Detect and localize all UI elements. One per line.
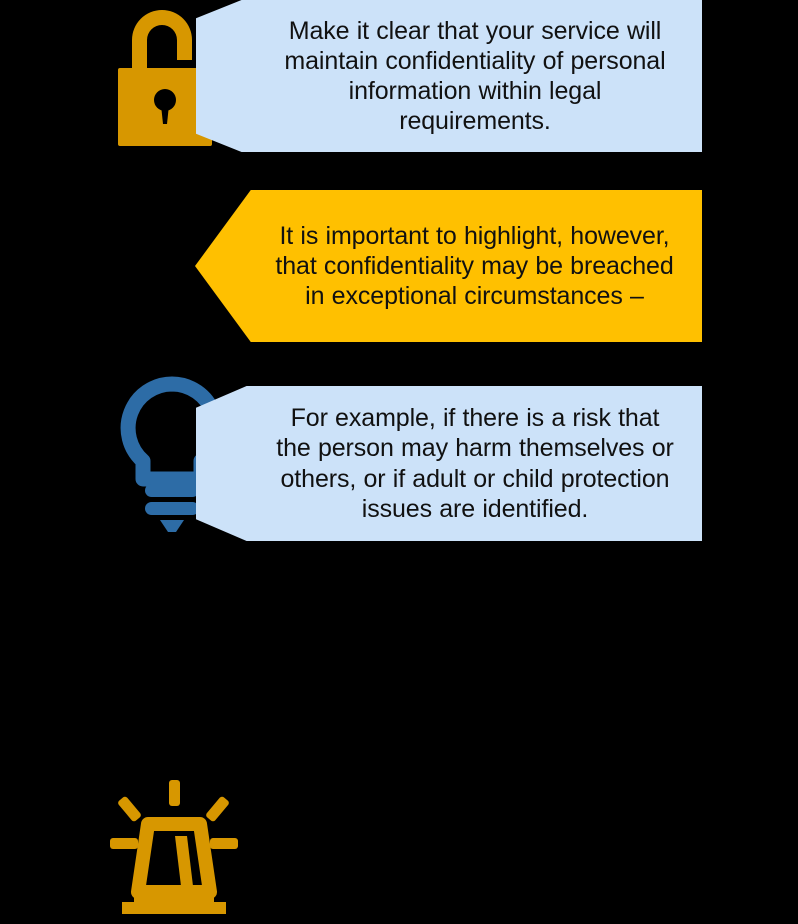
content-row-example: For example, if there is a risk that the… xyxy=(0,386,798,541)
banner-text-exception: It is important to highlight, however, t… xyxy=(195,221,702,312)
banner-text-example: For example, if there is a risk that the… xyxy=(196,403,702,524)
slide-canvas: Make it clear that your service will mai… xyxy=(0,0,798,550)
banner-text-confidentiality: Make it clear that your service will mai… xyxy=(196,16,702,137)
content-row-confidentiality: Make it clear that your service will mai… xyxy=(0,0,798,152)
alarm-siren-icon xyxy=(108,774,240,924)
banner-confidentiality: Make it clear that your service will mai… xyxy=(196,0,702,152)
banner-exception: It is important to highlight, however, t… xyxy=(195,190,702,342)
banner-example: For example, if there is a risk that the… xyxy=(196,386,702,541)
content-row-exception: It is important to highlight, however, t… xyxy=(0,190,798,342)
